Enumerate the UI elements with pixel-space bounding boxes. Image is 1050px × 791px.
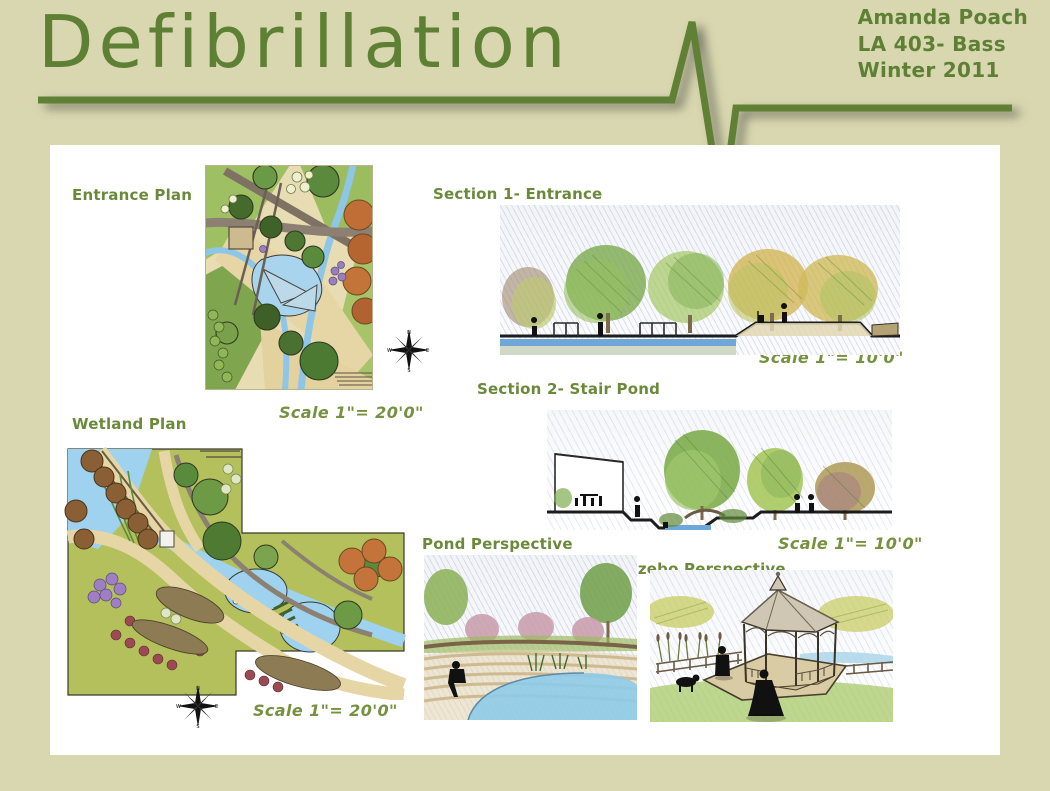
svg-text:W: W (387, 348, 392, 354)
svg-text:S: S (196, 724, 199, 729)
svg-text:E: E (426, 348, 429, 354)
svg-text:S: S (407, 368, 410, 373)
label-section-2: Section 2- Stair Pond (477, 380, 660, 398)
pond-perspective-drawing (424, 555, 637, 720)
svg-text:W: W (176, 704, 181, 710)
label-section-1: Section 1- Entrance (433, 185, 602, 203)
section-1-drawing (500, 205, 900, 355)
label-pond-perspective: Pond Perspective (422, 535, 573, 553)
label-wetland-plan: Wetland Plan (72, 415, 187, 433)
compass-rose-entrance: N S W E (386, 327, 432, 373)
svg-text:N: N (407, 330, 411, 336)
scale-entrance-plan: Scale 1"= 20'0" (279, 403, 424, 422)
entrance-plan-drawing (205, 165, 373, 390)
scale-section-2: Scale 1"= 10'0" (778, 534, 923, 553)
gazebo-perspective-drawing (650, 570, 893, 722)
label-entrance-plan: Entrance Plan (72, 186, 192, 204)
compass-rose-wetland: N S W E (175, 683, 221, 729)
content-panel: Entrance Plan Wetland Plan Section 1- En… (50, 145, 1000, 755)
svg-text:E: E (215, 704, 218, 710)
scale-wetland-plan: Scale 1"= 20'0" (253, 701, 398, 720)
wetland-plan-drawing (60, 445, 410, 700)
presentation-board: Defibrillation Amanda Poach LA 403- Bass… (0, 0, 1050, 791)
svg-text:N: N (196, 686, 200, 692)
section-2-drawing (547, 410, 892, 530)
